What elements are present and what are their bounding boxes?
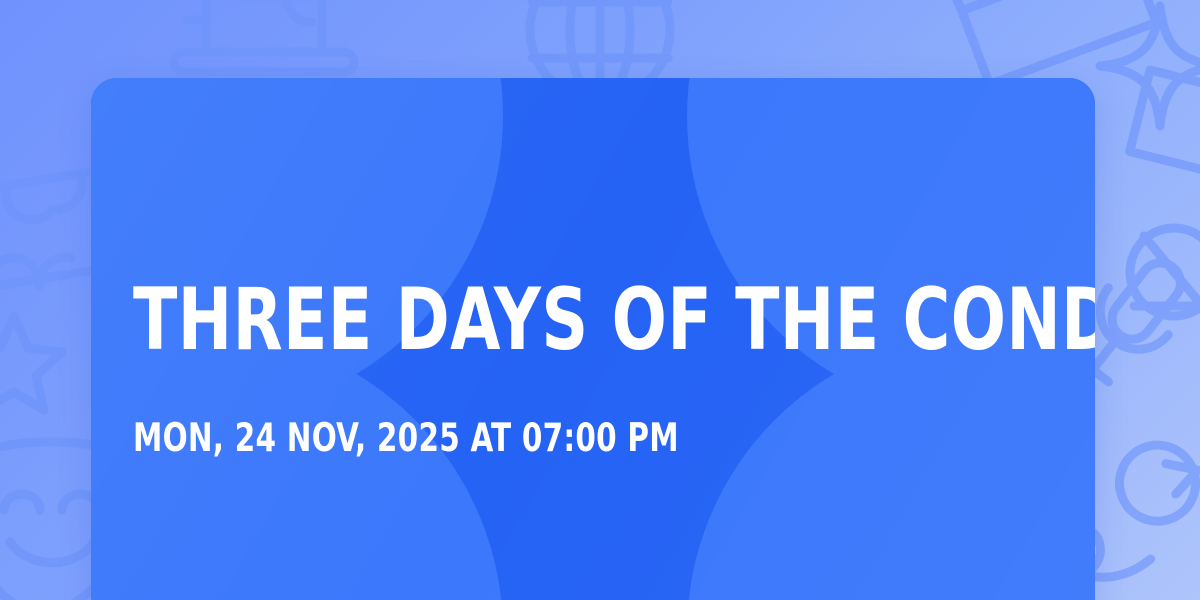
event-title: Three days of the Condor [133,274,1095,366]
projector-icon [174,0,354,72]
ticket-stub-icon [1130,70,1200,175]
star-icon [0,316,62,410]
event-card-content: Three days of the Condor Mon, 24 Nov, 20… [133,78,1053,600]
music-note-icon [1130,228,1200,316]
sparkle-icon [1100,6,1200,126]
event-card[interactable]: Three days of the Condor Mon, 24 Nov, 20… [91,78,1095,600]
film-clapper-icon [940,0,1162,89]
event-banner: Three days of the Condor Mon, 24 Nov, 20… [0,0,1200,600]
event-datetime: Mon, 24 Nov, 2025 at 07:00 PM [133,417,679,461]
